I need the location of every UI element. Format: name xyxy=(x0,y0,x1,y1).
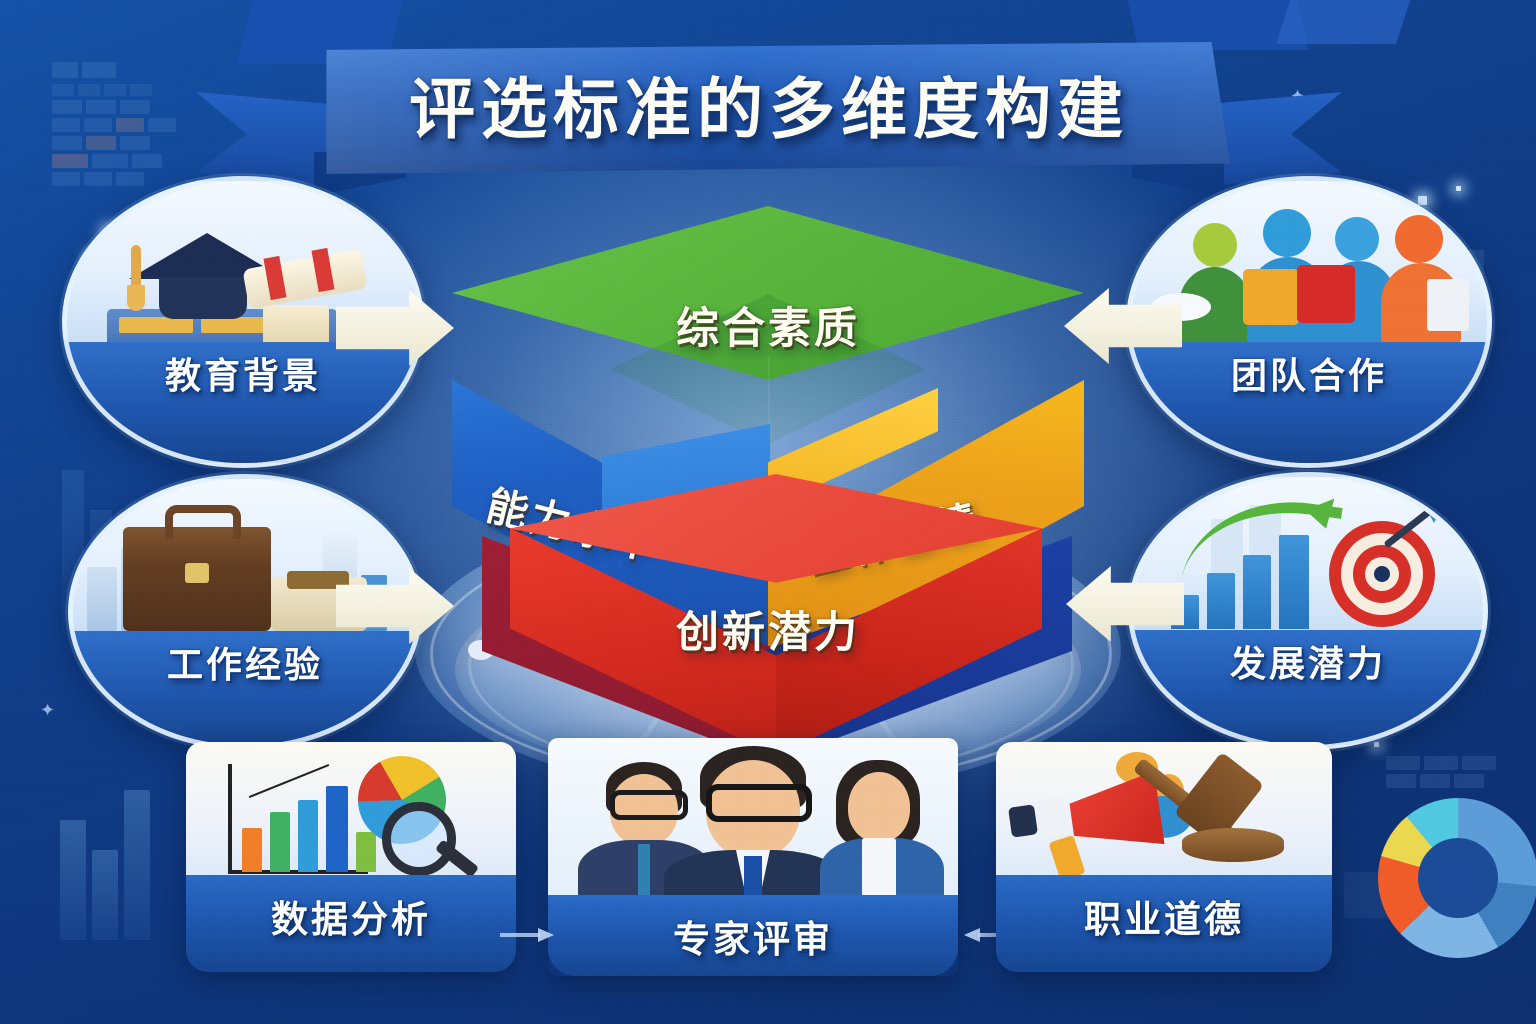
panel-data-analysis-label: 数据分析 xyxy=(186,889,516,943)
panel-data-analysis-art xyxy=(186,742,516,885)
arrow-to-expert-left xyxy=(500,928,556,942)
bubble-teamwork-art xyxy=(1131,181,1487,342)
page-title: 评选标准的多维度构建 xyxy=(196,56,1342,152)
bubble-potential-art xyxy=(1133,477,1483,630)
panel-professional-ethics-art xyxy=(996,742,1332,885)
bubble-potential-label: 发展潜力 xyxy=(1133,635,1483,687)
title-ribbon: 评选标准的多维度构建 xyxy=(196,34,1342,184)
panel-data-analysis[interactable]: 数据分析 xyxy=(186,742,516,972)
cube-label-top: 综合素质 xyxy=(452,294,1084,356)
panel-professional-ethics-label: 职业道德 xyxy=(996,889,1332,943)
gavel-block-icon xyxy=(1182,828,1284,862)
bubble-education-label: 教育背景 xyxy=(67,347,419,399)
cube-label-front: 创新潜力 xyxy=(452,598,1084,660)
panel-professional-ethics[interactable]: 职业道德 xyxy=(996,742,1332,972)
bubble-teamwork-label: 团队合作 xyxy=(1131,347,1487,399)
magnifier-icon xyxy=(382,802,456,876)
puzzle-piece-icon xyxy=(1297,265,1355,323)
evaluation-cube: 综合素质 能力水平 工作业绩 创新潜力 xyxy=(452,206,1084,736)
panel-expert-review-label: 专家评审 xyxy=(548,909,958,963)
donut-chart-decor xyxy=(1378,798,1536,958)
puzzle-piece-icon xyxy=(1243,269,1299,325)
panel-expert-review-art xyxy=(548,738,958,909)
bubble-experience-label: 工作经验 xyxy=(73,636,417,688)
expert-face-icon xyxy=(848,772,910,842)
infographic-canvas: ✦ ✦ ✦ 评选标准的多维度构建 xyxy=(0,0,1536,1024)
panel-expert-review[interactable]: 专家评审 xyxy=(548,738,958,976)
